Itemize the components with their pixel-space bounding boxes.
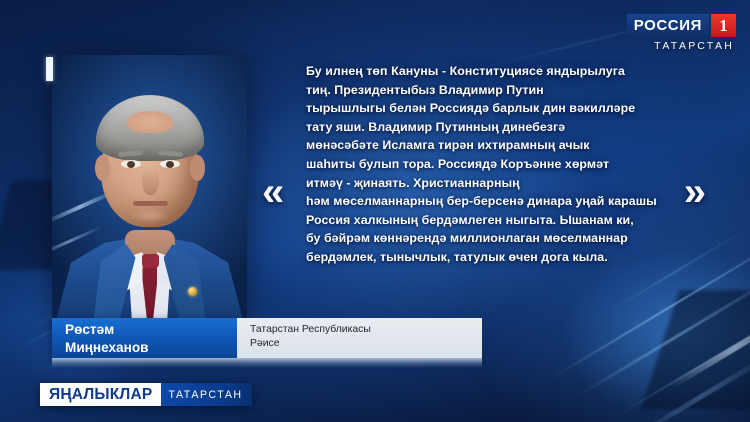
quote-line: бердәмлек, тынычлык, татулык өчен дога к… — [306, 248, 678, 267]
quote-line: итмәү - җинаять. Христианнарның — [306, 174, 678, 193]
quote-text: Бу илнең төп Кануны - Конституциясе янды… — [306, 62, 678, 267]
speaker-title: Татарстан Республикасы Рәисе — [237, 318, 482, 358]
portrait-accent-marker — [46, 57, 53, 81]
quote-line: мөнәсәбәте Исламга тирән ихтирамның ачык — [306, 136, 678, 155]
quote-line: тиң. Президентыбыз Владимир Путин — [306, 81, 678, 100]
speaker-first-name: Рөстәм — [65, 321, 237, 339]
news-program-region-label: ТАТАРСТАН — [161, 383, 251, 406]
channel-logo: РОССИЯ 1 ТАТАРСТАН — [627, 14, 736, 52]
channel-region-label: ТАТАРСТАН — [627, 40, 736, 52]
speaker-name: Рөстәм Миңнеханов — [52, 318, 237, 358]
speaker-title-line-1: Татарстан Республикасы — [250, 323, 482, 337]
nameplate-shadow — [52, 358, 482, 368]
news-program-bug: ЯҢАЛЫКЛАР ТАТАРСТАН — [40, 383, 252, 406]
quote-line: Россия халкының бердәмлеген ныгыта. Ышан… — [306, 211, 678, 230]
quote-line: Бу илнең төп Кануны - Конституциясе янды… — [306, 62, 678, 81]
quote-line: һәм мөселманнарның бер-берсенә динара уң… — [306, 192, 678, 211]
quote-close-mark: » — [684, 172, 706, 212]
quote-line: тату яши. Владимир Путинның динебезгә — [306, 118, 678, 137]
quote-line: тырышлыгы белән Россиядә барлык дин вәки… — [306, 99, 678, 118]
speaker-last-name: Миңнеханов — [65, 339, 237, 357]
channel-name-label: РОССИЯ — [627, 14, 709, 37]
quote-line: шаһиты булып тора. Россиядә Коръәнне хөр… — [306, 155, 678, 174]
lapel-pin-icon — [188, 287, 197, 296]
channel-number-badge: 1 — [711, 14, 736, 37]
quote-open-mark: « — [262, 172, 284, 212]
lower-third-nameplate: Рөстәм Миңнеханов Татарстан Республикасы… — [52, 318, 482, 368]
news-program-label: ЯҢАЛЫКЛАР — [40, 383, 161, 406]
speaker-portrait — [52, 55, 247, 320]
quote-block: « » Бу илнең төп Кануны - Конституциясе … — [262, 62, 702, 267]
quote-line: бу бәйрәм көннәрендә миллионлаган мөселм… — [306, 229, 678, 248]
speaker-title-line-2: Рәисе — [250, 337, 482, 351]
broadcast-screen: РОССИЯ 1 ТАТАРСТАН « » — [0, 0, 750, 422]
